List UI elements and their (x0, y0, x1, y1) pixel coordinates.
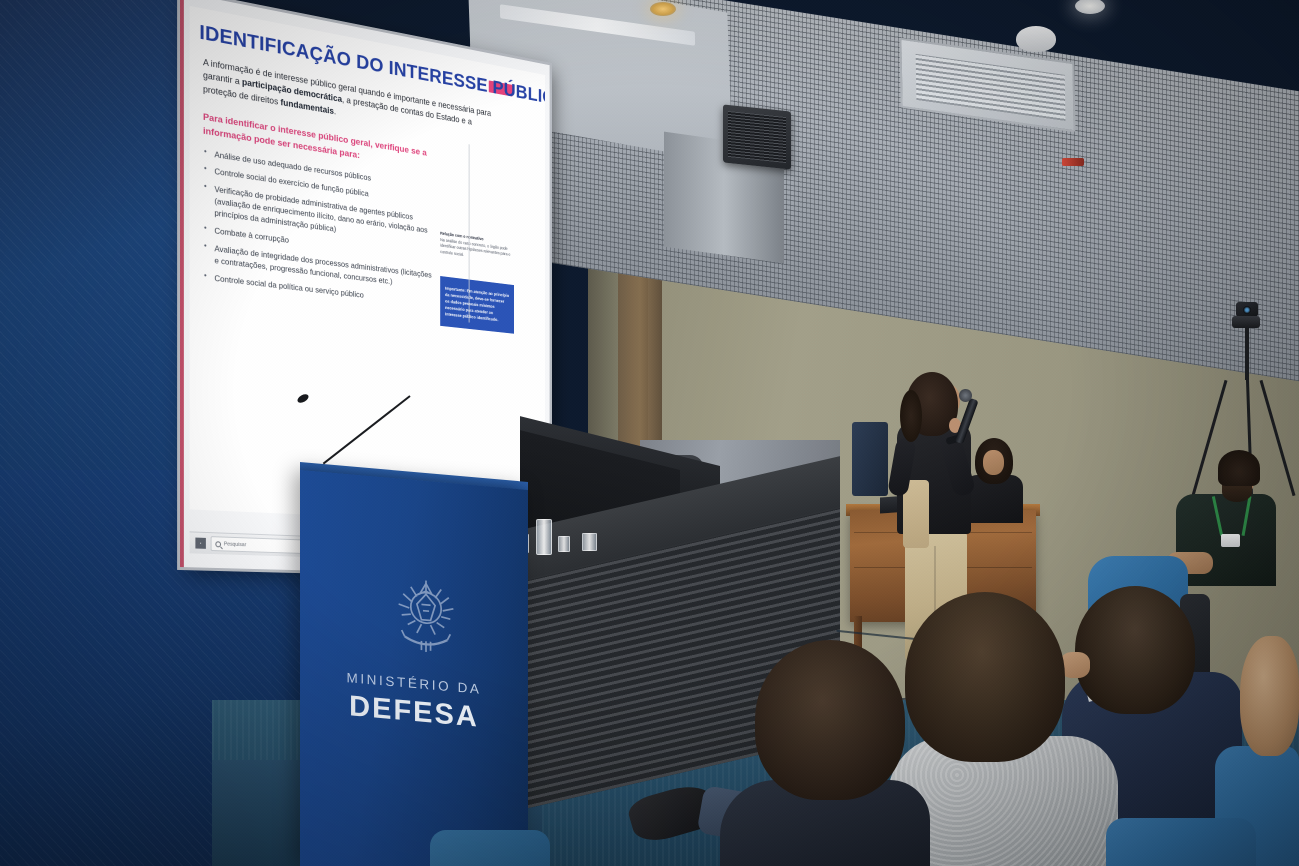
search-placeholder: Pesquisar (224, 541, 246, 548)
tripod-head (1232, 316, 1260, 328)
water-pitcher-icon (536, 519, 552, 555)
ceiling-downlight-icon (650, 2, 676, 16)
indicator-light-icon (1062, 158, 1084, 166)
slide-vertical-divider (469, 144, 470, 322)
auditorium-scene: gov.br IDENTIFICAÇÃO DO INTERESSE PÚBLIC… (0, 0, 1299, 866)
search-input[interactable]: Pesquisar (211, 536, 314, 554)
attendee-hair (1218, 450, 1260, 486)
blue-chair (1106, 818, 1256, 866)
water-glass-icon (558, 536, 570, 552)
panelist-face (983, 450, 1004, 475)
slide-important-box: Importante: Em atenção ao princípio da n… (440, 276, 514, 333)
screen-edge-trim (180, 0, 184, 567)
audience-member-2-head (905, 592, 1065, 762)
slide-p1-end: . (334, 107, 336, 117)
id-badge-icon (1221, 534, 1240, 547)
presentation-slide: gov.br IDENTIFICAÇÃO DO INTERESSE PÚBLIC… (190, 6, 545, 525)
camera-icon (1236, 302, 1258, 317)
water-glass-icon (582, 533, 597, 551)
ceiling-downlight-icon (1075, 0, 1105, 14)
slide-body: Análise de uso adequado de recursos públ… (203, 146, 537, 336)
ceiling-projector-icon (723, 104, 791, 169)
slide-aside-column: Relação com o normativo Na análise do ca… (440, 183, 514, 334)
monitor (852, 422, 888, 496)
blue-chair (430, 830, 550, 866)
search-icon (215, 541, 221, 547)
podium: MINISTÉRIO DA DEFESA (300, 470, 528, 866)
slide-aside-note: Relação com o normativo Na análise do ca… (440, 231, 514, 266)
smoke-detector-icon (1016, 26, 1056, 52)
audience-member-1-head (755, 640, 905, 800)
slide-bullet-list: Análise de uso adequado de recursos públ… (203, 146, 434, 324)
tripod-column (1245, 328, 1249, 380)
audience-member-3-head (1075, 586, 1195, 714)
audience-member-4-head (1240, 636, 1299, 756)
windows-start-icon[interactable] (195, 538, 205, 549)
brazil-coat-of-arms-icon (388, 568, 464, 667)
